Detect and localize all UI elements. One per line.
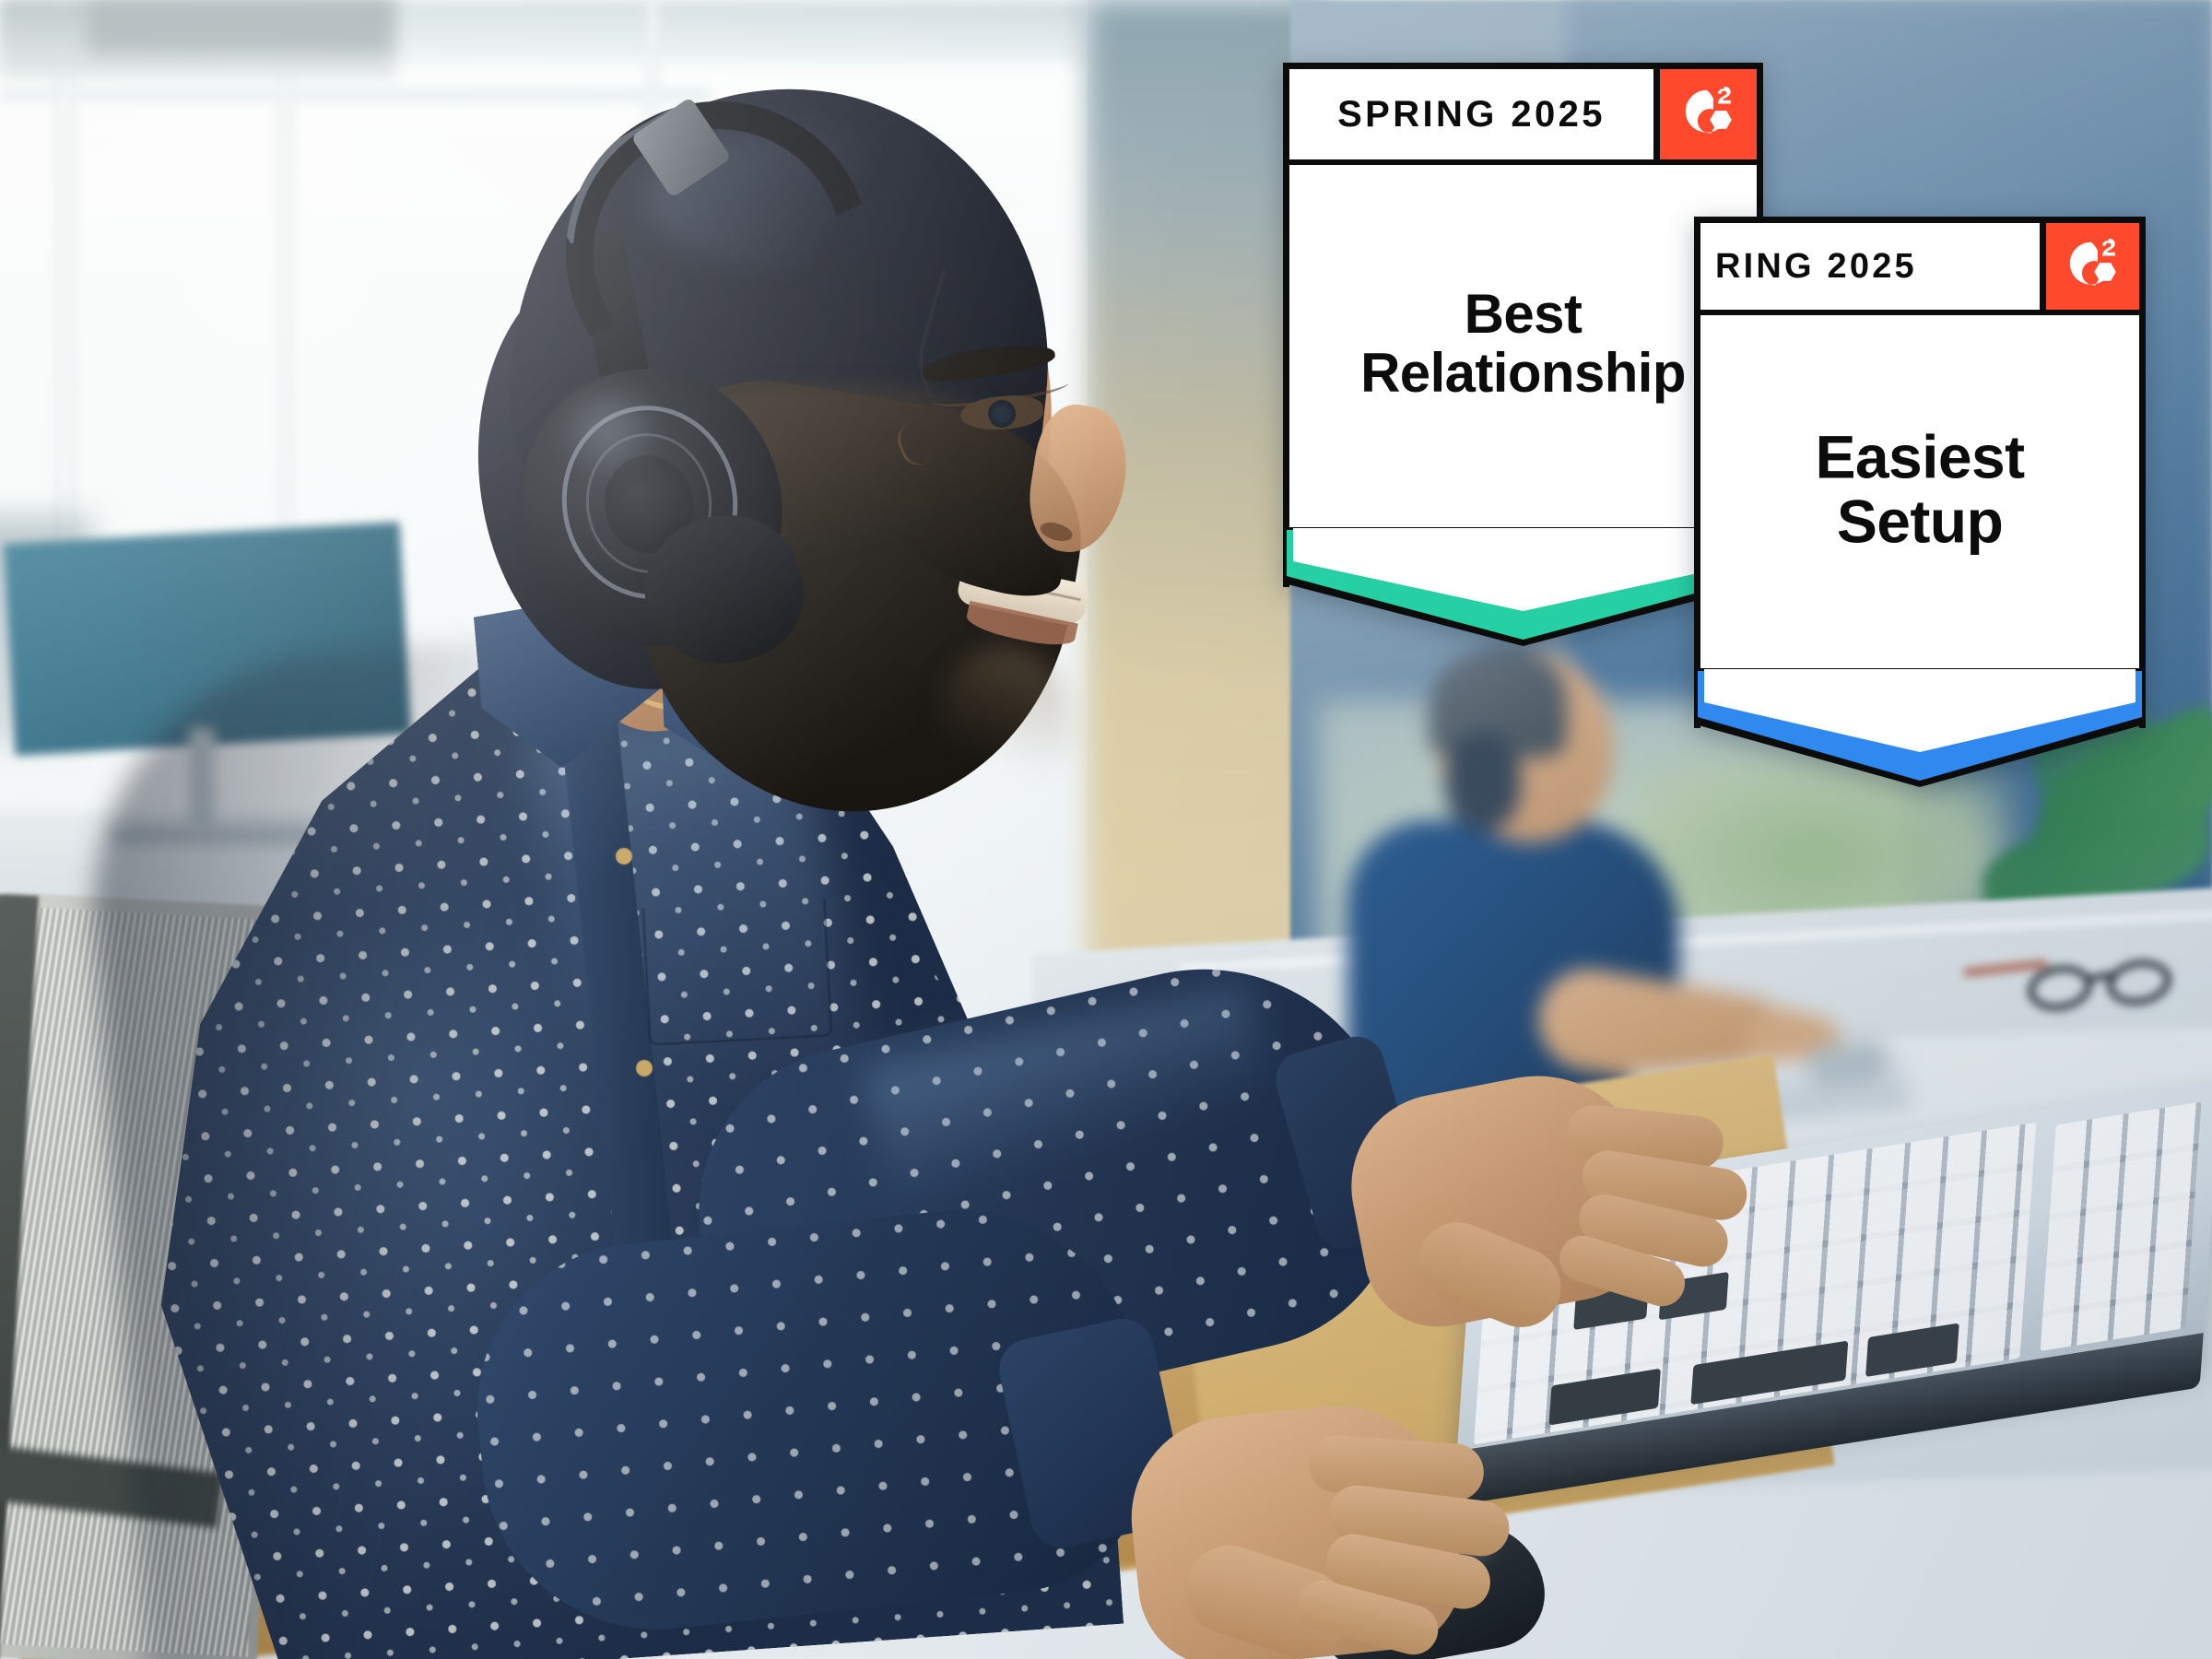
keyboard-numpad — [2041, 1101, 2202, 1351]
shirt-pocket — [641, 899, 833, 1046]
badge-header: RING 2025 — [1694, 217, 2146, 316]
glasses-lens — [2103, 955, 2174, 1009]
headphone-highlight — [553, 378, 664, 479]
badge-title: Easiest Setup — [1700, 424, 2139, 554]
eyeglasses-on-desk — [2028, 959, 2212, 1023]
g2-logo — [2040, 223, 2139, 310]
badge-title-line1: Easiest — [1816, 422, 2025, 490]
badge-title: Best Relationship — [1289, 285, 1757, 403]
screenshot-stage: SPRING 2025 Best Relationship — [0, 0, 2212, 1659]
badge-body: Best Relationship — [1283, 165, 1763, 534]
badge-header: SPRING 2025 — [1283, 63, 1763, 166]
iris — [987, 399, 1018, 429]
badge-title-line1: Best — [1465, 283, 1583, 345]
badge-title-line2: Setup — [1837, 488, 2003, 556]
badge-period-label: RING 2025 — [1700, 223, 2040, 310]
g2-badge-easiest-setup[interactable]: RING 2025 Easiest Setup — [1694, 217, 2146, 768]
foreground-person — [0, 0, 1290, 1659]
coworker-headset — [1445, 732, 1521, 831]
badge-body: Easiest Setup — [1694, 315, 2146, 675]
badge-title-line2: Relationship — [1360, 342, 1686, 404]
g2-badge-best-relationship[interactable]: SPRING 2025 Best Relationship — [1283, 63, 1763, 636]
shirt-button — [616, 848, 632, 865]
badge-period-label: SPRING 2025 — [1289, 69, 1653, 159]
beard-highlight — [940, 645, 1069, 802]
shirt-button — [636, 1060, 653, 1077]
g2-logo — [1653, 69, 1757, 159]
badge-chevron-foot — [1694, 675, 2146, 787]
badge-chevron-foot — [1283, 534, 1763, 646]
